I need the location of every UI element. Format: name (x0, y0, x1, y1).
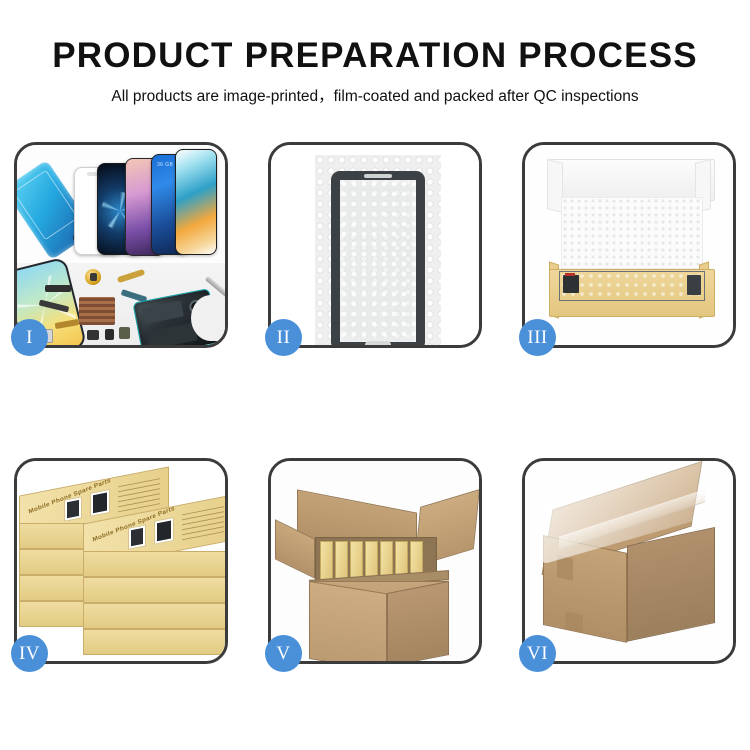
box-stack: Mobile Phone Spare Parts Mobile Phone Sp… (17, 467, 225, 661)
box-art-phone-2 (90, 489, 110, 517)
retail-box-body-5 (83, 551, 225, 577)
box-art-phone-1 (64, 496, 82, 521)
retail-box-body-6 (83, 577, 225, 603)
phone-parts-photo: 36 GB (17, 145, 225, 345)
earpiece-slot (364, 174, 392, 178)
sealed-carton-side (627, 527, 715, 642)
vibration-motor-part (85, 269, 101, 285)
retail-box-body-8 (83, 629, 225, 655)
step-badge-3: III (519, 319, 556, 356)
wrapped-screen-glass (331, 171, 425, 345)
box-spec-lines-2 (182, 506, 224, 540)
carton-handle-cut-2 (565, 611, 583, 633)
step-card-5 (268, 458, 482, 664)
battery-pack (147, 323, 198, 345)
step-badge-2: II (265, 319, 302, 356)
box-spec-lines-1 (118, 478, 160, 512)
home-button-slot (365, 341, 391, 345)
step-badge-4: IV (11, 635, 48, 672)
screen-label (563, 275, 579, 293)
box-art-phone-3 (128, 524, 146, 549)
technician-hand (191, 295, 225, 341)
speaker-module-part (45, 285, 71, 292)
sealed-carton-photo (525, 461, 733, 661)
stacked-boxes-photo: Mobile Phone Spare Parts Mobile Phone Sp… (17, 461, 225, 661)
screen-connector-end (687, 275, 701, 295)
step-badge-5: V (265, 635, 302, 672)
foam-liner (561, 197, 703, 269)
page-title: PRODUCT PREPARATION PROCESS (0, 36, 750, 76)
carton-front-face (309, 581, 387, 661)
step-badge-1: I (11, 319, 48, 356)
step-card-3 (522, 142, 736, 348)
gradient-display (175, 149, 217, 255)
camera-module-3 (119, 327, 130, 339)
carton-handle-cut-1 (557, 555, 573, 580)
box-art-phone-4 (154, 517, 174, 545)
page-subtitle: All products are image-printed，film-coat… (0, 84, 750, 106)
step-card-4: Mobile Phone Spare Parts Mobile Phone Sp… (14, 458, 228, 664)
camera-module-2 (105, 329, 114, 340)
bubble-overlay (340, 180, 416, 342)
step-card-2 (268, 142, 482, 348)
step-card-1: 36 GB (14, 142, 228, 348)
bubble-wrap-photo (271, 145, 479, 345)
step-card-6 (522, 458, 736, 664)
inner-box-photo (525, 145, 733, 345)
box-lid-back (547, 159, 715, 201)
red-marker (565, 273, 575, 276)
logic-board (142, 301, 184, 324)
chip-array-part (79, 297, 115, 325)
display-status-text: 36 GB (157, 162, 173, 168)
packed-screen-in-box (559, 271, 705, 301)
camera-module-1 (87, 330, 99, 340)
step-badge-6: VI (519, 635, 556, 672)
retail-box-body-7 (83, 603, 225, 629)
sealed-carton-front (543, 535, 627, 643)
carton-right-face (387, 581, 449, 661)
carton-packing-photo (271, 461, 479, 661)
product-preparation-page: PRODUCT PREPARATION PROCESS All products… (0, 0, 750, 750)
